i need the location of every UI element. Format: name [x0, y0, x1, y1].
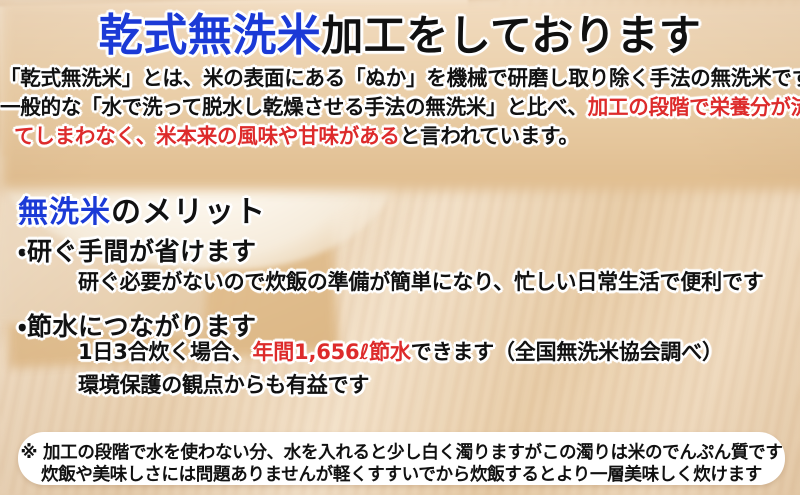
merit-item-1-label: 研ぐ手間が省けます — [27, 237, 257, 266]
merit-item-2-detail-1-highlight: 年間1,656ℓ節水 — [252, 340, 410, 364]
intro-line-3-red-a: てしまわなく、 — [14, 124, 156, 148]
page-title-blue-part: 乾式無洗米 — [99, 10, 322, 61]
page-title-black-part: 加工をしております — [321, 11, 701, 60]
promo-poster: 乾式無洗米加工をしております 「乾式無洗米」とは、米の表面にある「ぬか」を機械で… — [0, 0, 800, 495]
footnote-box: ※ 加工の段階で水を使わない分、水を入れると少し白く濁りますがこの濁りは米のでん… — [18, 432, 785, 485]
intro-line-3: てしまわなく、米本来の風味や甘味があると言われています。 — [0, 122, 800, 151]
intro-line-3-black: と言われています。 — [400, 124, 579, 148]
merit-item-1-detail-1: 研ぐ必要がないので炊飯の準備が簡単になり、忙しい日常生活で便利です — [78, 266, 764, 296]
merits-heading-black-part: のメリット — [111, 195, 266, 230]
poster-content: 乾式無洗米加工をしております 「乾式無洗米」とは、米の表面にある「ぬか」を機械で… — [0, 0, 800, 495]
merit-item-2-detail-2: 環境保護の観点からも有益です — [78, 369, 369, 399]
merit-item-2-detail-1: 1日3合炊く場合、年間1,656ℓ節水できます（全国無洗米協会調べ） — [78, 336, 723, 366]
merit-item-1-title: ・研ぐ手間が省けます — [18, 232, 257, 268]
intro-line-1: 「乾式無洗米」とは、米の表面にある「ぬか」を機械で研磨し取り除く手法の無洗米です… — [0, 64, 800, 93]
merits-heading-blue-part: 無洗米 — [18, 195, 111, 230]
page-title: 乾式無洗米加工をしております — [0, 13, 800, 59]
merits-heading: 無洗米のメリット — [18, 187, 266, 231]
merit-item-2-bullet-marker: ・ — [18, 312, 27, 341]
merit-item-2-detail-1-after: できます（全国無洗米協会調べ） — [411, 340, 723, 364]
intro-line-2: 一般的な「水で洗って脱水し乾燥させる手法の無洗米」と比べ、加工の段階で栄養分が流… — [0, 93, 800, 122]
intro-paragraph: 「乾式無洗米」とは、米の表面にある「ぬか」を機械で研磨し取り除く手法の無洗米です… — [0, 64, 800, 151]
footnote-line-2: 炊飯や美味しさには問題ありませんが軽くすすいでから炊飯するとより一層美味しく炊け… — [18, 461, 785, 486]
merit-item-2-detail-1-before: 1日3合炊く場合、 — [78, 340, 252, 364]
intro-line-2-black: 一般的な「水で洗って脱水し乾燥させる手法の無洗米」と比べ、 — [0, 95, 588, 119]
intro-line-2-red: 加工の段階で栄養分が流れ — [588, 95, 800, 119]
intro-line-3-red-b: 米本来の風味や甘味がある — [156, 124, 400, 148]
merit-item-1-bullet-marker: ・ — [18, 237, 27, 266]
